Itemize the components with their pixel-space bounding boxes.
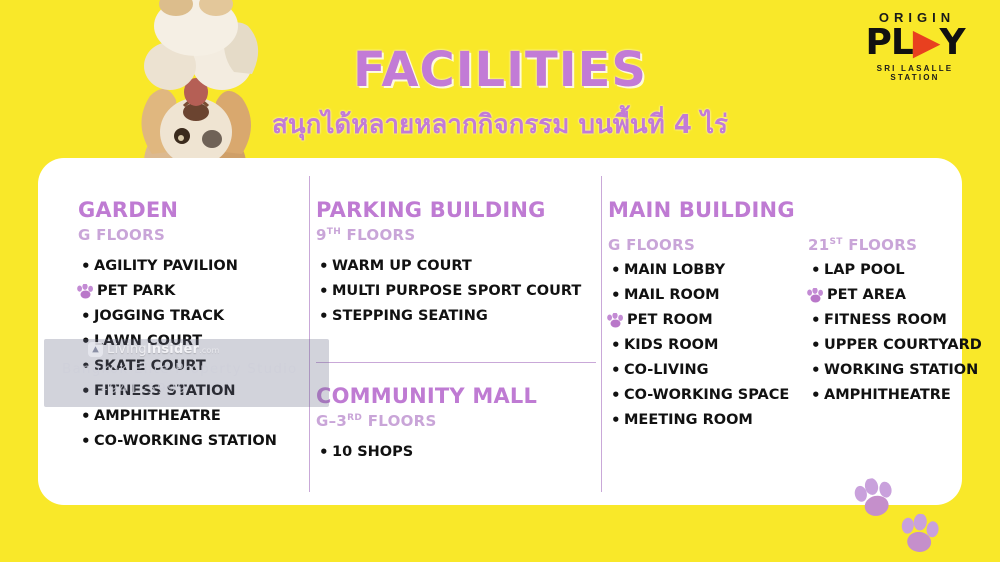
list-item: PET ROOM: [608, 308, 789, 333]
parking-list: WARM UP COURTMULTI PURPOSE SPORT COURTST…: [316, 254, 596, 329]
divider-vertical-2: [601, 176, 602, 492]
list-item-label: WORKING STATION: [824, 362, 978, 378]
list-item-label: CO-WORKING SPACE: [624, 387, 789, 403]
list-item-label: JOGGING TRACK: [94, 308, 224, 324]
divider-horizontal: [316, 362, 596, 363]
list-item-label: MAIN LOBBY: [624, 262, 725, 278]
parking-floors-rest: FLOORS: [341, 226, 415, 244]
list-item: KIDS ROOM: [608, 333, 789, 358]
list-item: LAP POOL: [808, 258, 982, 283]
section-community-mall: COMMUNITY MALL G–3RD FLOORS 10 SHOPS: [316, 384, 596, 465]
list-item: MAIL ROOM: [608, 283, 789, 308]
community-mall-floors-rest: FLOORS: [362, 412, 436, 430]
list-item: CO-WORKING SPACE: [608, 383, 789, 408]
main-21-floors-rest: FLOORS: [843, 236, 917, 254]
community-mall-title: COMMUNITY MALL: [316, 384, 596, 408]
list-item: WORKING STATION: [808, 358, 982, 383]
list-item: PET PARK: [78, 279, 293, 304]
main-21-list: LAP POOLPET AREAFITNESS ROOMUPPER COURTY…: [808, 258, 982, 408]
list-item-label: PET ROOM: [627, 312, 713, 328]
main-building-title: MAIN BUILDING: [608, 198, 953, 222]
list-item: 10 SHOPS: [316, 440, 596, 465]
paw-bullet-icon: [807, 288, 824, 303]
section-main-building: MAIN BUILDING G FLOORS MAIN LOBBYMAIL RO…: [608, 198, 953, 466]
garden-floors: G FLOORS: [78, 226, 293, 244]
list-item: STEPPING SEATING: [316, 304, 596, 329]
list-item-label: CO-LIVING: [624, 362, 709, 378]
list-item-label: LAP POOL: [824, 262, 905, 278]
community-mall-floors: G–3RD FLOORS: [316, 412, 596, 430]
list-item: CO-LIVING: [608, 358, 789, 383]
list-item: AMPHITHEATRE: [808, 383, 982, 408]
parking-title: PARKING BUILDING: [316, 198, 596, 222]
section-garden: GARDEN G FLOORS AGILITY PAVILIONPET PARK…: [78, 198, 293, 454]
list-item-label: PET PARK: [97, 283, 175, 299]
main-building-subcolumns: G FLOORS MAIN LOBBYMAIL ROOMPET ROOMKIDS…: [608, 236, 953, 466]
list-item: AGILITY PAVILION: [78, 254, 293, 279]
paw-bullet-icon: [607, 313, 624, 328]
list-item-label: 10 SHOPS: [332, 444, 413, 460]
list-item-label: CO-WORKING STATION: [94, 433, 277, 449]
facilities-card: GARDEN G FLOORS AGILITY PAVILIONPET PARK…: [38, 158, 962, 505]
list-item: MAIN LOBBY: [608, 258, 789, 283]
list-item: MEETING ROOM: [608, 408, 789, 433]
parking-floors-sup: TH: [327, 227, 341, 237]
list-item: UPPER COURTYARD: [808, 333, 982, 358]
list-item-label: UPPER COURTYARD: [824, 337, 982, 353]
main-21-floors-num: 21: [808, 236, 829, 254]
list-item-label: WARM UP COURT: [332, 258, 472, 274]
page-header: FACILITIES สนุกได้หลายหลากกิจกรรม บนพื้น…: [0, 42, 1000, 145]
list-item-label: AMPHITHEATRE: [94, 408, 221, 424]
main-g-floors-label: G FLOORS: [608, 236, 789, 254]
main-building-g-floors: G FLOORS MAIN LOBBYMAIL ROOMPET ROOMKIDS…: [608, 236, 789, 433]
list-item-label: SKATE COURT: [94, 358, 206, 374]
list-item: JOGGING TRACK: [78, 304, 293, 329]
main-g-list: MAIN LOBBYMAIL ROOMPET ROOMKIDS ROOMCO-L…: [608, 258, 789, 433]
section-parking: PARKING BUILDING 9TH FLOORS WARM UP COUR…: [316, 198, 596, 329]
list-item: SKATE COURT: [78, 354, 293, 379]
page-subtitle: สนุกได้หลายหลากกิจกรรม บนพื้นที่ 4 ไร่: [0, 104, 1000, 145]
list-item-label: MULTI PURPOSE SPORT COURT: [332, 283, 581, 299]
list-item-label: AGILITY PAVILION: [94, 258, 238, 274]
list-item-label: LAWN COURT: [94, 333, 202, 349]
parking-floors: 9TH FLOORS: [316, 226, 596, 244]
list-item-label: STEPPING SEATING: [332, 308, 488, 324]
list-item: LAWN COURT: [78, 329, 293, 354]
list-item-label: MAIL ROOM: [624, 287, 720, 303]
list-item-label: FITNESS ROOM: [824, 312, 947, 328]
list-item: FITNESS ROOM: [808, 308, 982, 333]
paw-decoration-icon-1: [849, 474, 900, 522]
paw-bullet-icon: [77, 284, 94, 299]
list-item: PET AREA: [808, 283, 982, 308]
list-item-label: MEETING ROOM: [624, 412, 753, 428]
list-item-label: KIDS ROOM: [624, 337, 718, 353]
list-item-label: FITNESS STATION: [94, 383, 236, 399]
garden-list: AGILITY PAVILIONPET PARKJOGGING TRACKLAW…: [78, 254, 293, 454]
community-mall-floors-sup: RD: [347, 413, 362, 423]
list-item-label: AMPHITHEATRE: [824, 387, 951, 403]
list-item: WARM UP COURT: [316, 254, 596, 279]
paw-decoration-icon-2: [896, 512, 944, 556]
main-21-floors-sup: ST: [829, 237, 842, 247]
list-item: AMPHITHEATRE: [78, 404, 293, 429]
main-21-floors-label: 21ST FLOORS: [808, 236, 982, 254]
community-mall-list: 10 SHOPS: [316, 440, 596, 465]
list-item: CO-WORKING STATION: [78, 429, 293, 454]
divider-vertical-1: [309, 176, 310, 492]
garden-title: GARDEN: [78, 198, 293, 222]
list-item: MULTI PURPOSE SPORT COURT: [316, 279, 596, 304]
community-mall-floors-num: G–3: [316, 412, 347, 430]
parking-floors-num: 9: [316, 226, 327, 244]
main-building-21-floors: 21ST FLOORS LAP POOLPET AREAFITNESS ROOM…: [808, 236, 982, 408]
page-title: FACILITIES: [0, 42, 1000, 98]
list-item-label: PET AREA: [827, 287, 906, 303]
list-item: FITNESS STATION: [78, 379, 293, 404]
